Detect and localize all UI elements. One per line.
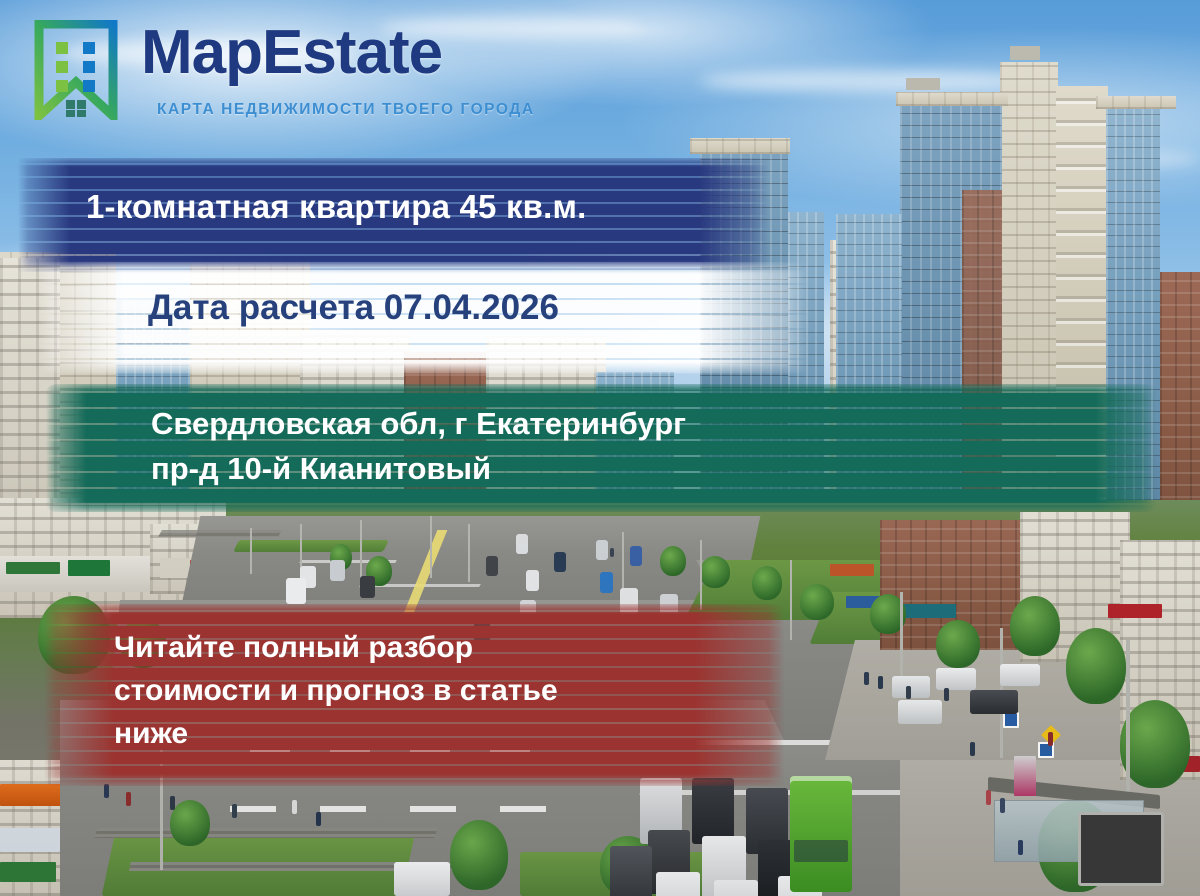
cta-line-3: ниже	[114, 712, 784, 755]
brand-wordmark: MapEstate	[141, 22, 442, 84]
cta-text: Читайте полный разбор стоимости и прогно…	[44, 604, 784, 756]
address-line-2: пр-д 10-й Кианитовый	[151, 447, 1156, 492]
address-text: Свердловская обл, г Екатеринбург пр-д 10…	[46, 384, 1156, 492]
bookmark-building-icon	[31, 20, 121, 120]
calculation-date-text: Дата расчета 07.04.2026	[38, 262, 810, 328]
address-banner: Свердловская обл, г Екатеринбург пр-д 10…	[46, 384, 1156, 512]
cta-banner[interactable]: Читайте полный разбор стоимости и прогно…	[44, 604, 784, 786]
property-title-text: 1-комнатная квартира 45 кв.м.	[18, 158, 770, 226]
brand-tagline: КАРТА НЕДВИЖИМОСТИ ТВОЕГО ГОРОДА	[157, 102, 535, 118]
property-title-banner: 1-комнатная квартира 45 кв.м.	[18, 158, 770, 272]
cta-line-1: Читайте полный разбор	[114, 626, 784, 669]
promo-poster: MapEstate КАРТА НЕДВИЖИМОСТИ ТВОЕГО ГОРО…	[0, 0, 1200, 896]
address-line-1: Свердловская обл, г Екатеринбург	[151, 402, 1156, 447]
cta-line-2: стоимости и прогноз в статье	[114, 669, 784, 712]
calculation-date-banner: Дата расчета 07.04.2026	[38, 262, 810, 374]
brand-logo[interactable]: MapEstate КАРТА НЕДВИЖИМОСТИ ТВОЕГО ГОРО…	[31, 16, 571, 124]
